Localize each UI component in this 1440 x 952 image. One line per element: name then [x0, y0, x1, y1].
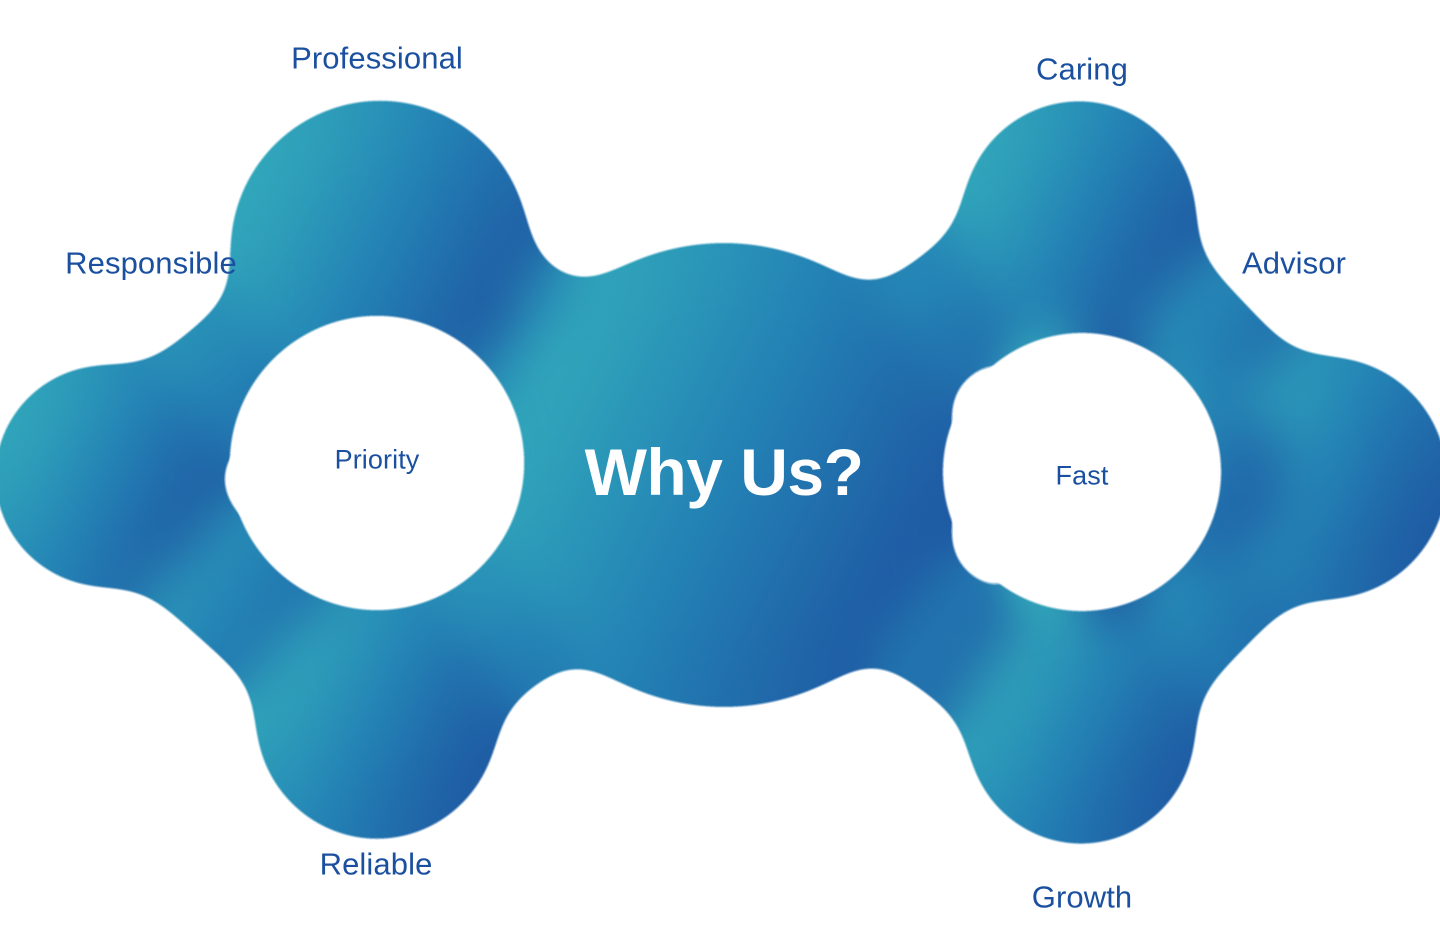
- label-reliable[interactable]: Reliable: [320, 849, 433, 880]
- label-advisor[interactable]: Advisor: [1242, 248, 1346, 279]
- professional-node: [230, 100, 530, 400]
- label-caring[interactable]: Caring: [1036, 54, 1128, 85]
- label-fast[interactable]: Fast: [1056, 463, 1109, 490]
- bridge-node: [1089, 376, 1281, 568]
- label-responsible[interactable]: Responsible: [65, 248, 237, 279]
- label-priority[interactable]: Priority: [335, 447, 420, 474]
- growth-node: [966, 615, 1196, 845]
- center-headline: Why Us?: [585, 439, 864, 505]
- why-us-infographic: Professional Responsible Reliable Caring…: [0, 0, 1440, 952]
- label-growth[interactable]: Growth: [1032, 882, 1133, 913]
- reliable-node: [255, 596, 499, 840]
- label-professional[interactable]: Professional: [291, 43, 463, 74]
- responsible-node: [0, 364, 218, 588]
- caring-node: [961, 100, 1197, 336]
